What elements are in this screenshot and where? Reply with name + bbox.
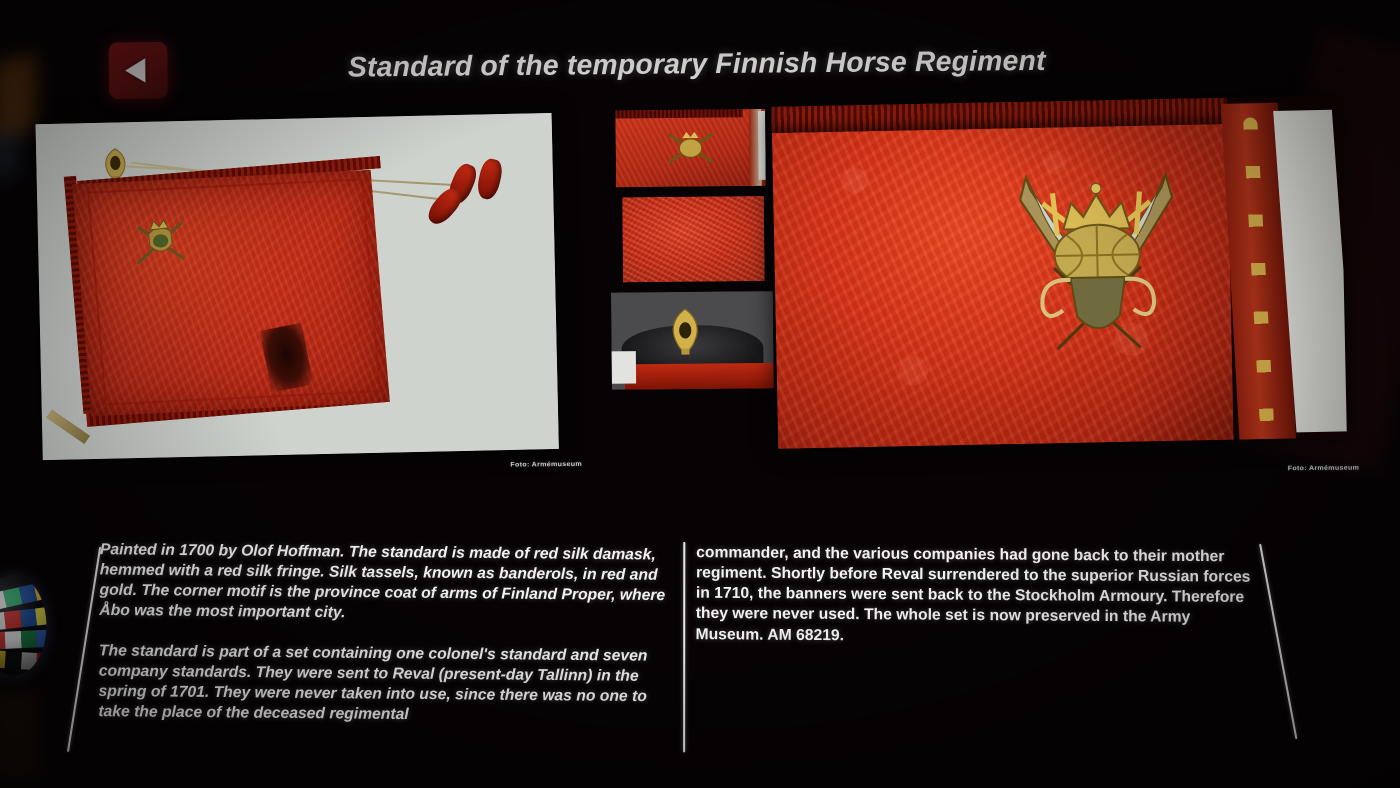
gilt-finial-icon xyxy=(670,308,701,355)
kiosk-screen: Standard of the temporary Finnish Horse … xyxy=(0,0,1400,788)
thumbnail-strip: Foto: Armémuseum Foto: Armémuseum xyxy=(609,109,774,391)
page-title: Standard of the temporary Finnish Horse … xyxy=(292,44,1102,84)
panel-divider-left xyxy=(67,547,101,752)
back-button[interactable] xyxy=(109,42,168,99)
brass-studs xyxy=(1243,117,1274,425)
photo-credit-left: Foto: Armémuseum xyxy=(510,461,582,468)
gilt-finial-icon xyxy=(103,148,128,181)
province-coat-of-arms xyxy=(126,207,195,272)
triangle-left-icon xyxy=(125,58,145,82)
photo-credit-right: Foto: Armémuseum xyxy=(1288,465,1360,472)
coat-of-arms-icon xyxy=(660,128,721,171)
photo-background xyxy=(612,351,637,384)
silk-fringe xyxy=(625,363,774,390)
thumbnail-image xyxy=(622,196,764,282)
panel-divider-middle xyxy=(683,542,685,752)
thumbnail-image xyxy=(611,291,774,390)
description-column-left: Painted in 1700 by Olof Hoffman. The sta… xyxy=(98,540,673,728)
photo-background xyxy=(758,111,766,180)
description-paragraph: Painted in 1700 by Olof Hoffman. The sta… xyxy=(99,540,673,627)
panel-divider-right xyxy=(1259,544,1297,739)
description-column-right: commander, and the various companies had… xyxy=(695,543,1263,649)
description-paragraph: The standard is part of a set containing… xyxy=(98,641,672,728)
standard-closeup-photograph[interactable] xyxy=(771,95,1346,448)
thumbnail-gilt-finial[interactable]: Foto: Armémuseum xyxy=(611,291,774,390)
crowned-coat-of-arms xyxy=(989,156,1206,363)
globe-flags-icon[interactable] xyxy=(0,574,47,676)
description-paragraph: commander, and the various companies had… xyxy=(695,543,1263,649)
silk-fringe xyxy=(615,109,743,118)
thumbnail-image xyxy=(615,109,766,187)
museum-kiosk-photo: Standard of the temporary Finnish Horse … xyxy=(0,0,1400,788)
standard-silk-body xyxy=(72,170,390,416)
thumbnail-whole-standard[interactable]: Foto: Armémuseum xyxy=(615,109,766,187)
full-standard-photograph[interactable] xyxy=(36,113,559,460)
thumbnail-damask-texture[interactable]: Foto: Armémuseum xyxy=(622,196,764,282)
